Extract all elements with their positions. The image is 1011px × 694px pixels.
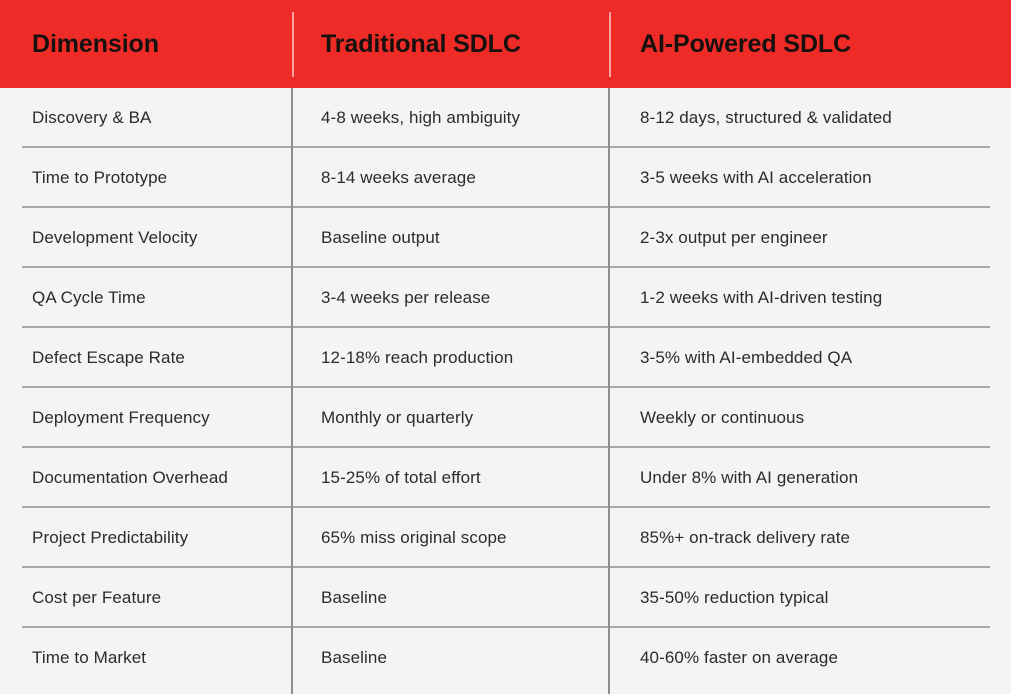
column-header-dimension-label: Dimension	[32, 30, 159, 59]
cell-ai-powered: 85%+ on-track delivery rate	[609, 508, 1011, 568]
cell-ai-powered: Under 8% with AI generation	[609, 448, 1011, 508]
cell-ai-powered: 1-2 weeks with AI-driven testing	[609, 268, 1011, 328]
table-row: Discovery & BA 4-8 weeks, high ambiguity…	[0, 88, 1011, 148]
table-row: Deployment Frequency Monthly or quarterl…	[0, 388, 1011, 448]
cell-traditional: 8-14 weeks average	[292, 148, 609, 208]
cell-ai-powered: Weekly or continuous	[609, 388, 1011, 448]
table-row: Cost per Feature Baseline 35-50% reducti…	[0, 568, 1011, 628]
cell-ai-powered: 3-5% with AI-embedded QA	[609, 328, 1011, 388]
cell-traditional: 3-4 weeks per release	[292, 268, 609, 328]
table-row: QA Cycle Time 3-4 weeks per release 1-2 …	[0, 268, 1011, 328]
column-header-ai-powered-sdlc: AI-Powered SDLC	[609, 0, 1011, 88]
column-header-ai-powered-sdlc-label: AI-Powered SDLC	[640, 30, 851, 59]
cell-traditional: 65% miss original scope	[292, 508, 609, 568]
column-header-traditional-sdlc-label: Traditional SDLC	[321, 30, 521, 59]
cell-traditional: 12-18% reach production	[292, 328, 609, 388]
cell-dimension: QA Cycle Time	[0, 268, 292, 328]
column-header-traditional-sdlc: Traditional SDLC	[292, 0, 609, 88]
cell-dimension: Documentation Overhead	[0, 448, 292, 508]
cell-traditional: Baseline	[292, 628, 609, 688]
cell-traditional: Monthly or quarterly	[292, 388, 609, 448]
cell-traditional: 4-8 weeks, high ambiguity	[292, 88, 609, 148]
cell-traditional: Baseline	[292, 568, 609, 628]
table-header-row: Dimension Traditional SDLC AI-Powered SD…	[0, 0, 1011, 88]
cell-traditional: Baseline output	[292, 208, 609, 268]
cell-dimension: Time to Prototype	[0, 148, 292, 208]
cell-ai-powered: 40-60% faster on average	[609, 628, 1011, 688]
table-row: Documentation Overhead 15-25% of total e…	[0, 448, 1011, 508]
table-row: Time to Prototype 8-14 weeks average 3-5…	[0, 148, 1011, 208]
cell-traditional: 15-25% of total effort	[292, 448, 609, 508]
cell-dimension: Time to Market	[0, 628, 292, 688]
cell-dimension: Project Predictability	[0, 508, 292, 568]
cell-ai-powered: 35-50% reduction typical	[609, 568, 1011, 628]
cell-ai-powered: 2-3x output per engineer	[609, 208, 1011, 268]
cell-dimension: Deployment Frequency	[0, 388, 292, 448]
cell-ai-powered: 3-5 weeks with AI acceleration	[609, 148, 1011, 208]
table-row: Defect Escape Rate 12-18% reach producti…	[0, 328, 1011, 388]
cell-dimension: Cost per Feature	[0, 568, 292, 628]
cell-dimension: Development Velocity	[0, 208, 292, 268]
cell-dimension: Defect Escape Rate	[0, 328, 292, 388]
table-body: Discovery & BA 4-8 weeks, high ambiguity…	[0, 88, 1011, 688]
table-row: Development Velocity Baseline output 2-3…	[0, 208, 1011, 268]
comparison-table: Dimension Traditional SDLC AI-Powered SD…	[0, 0, 1011, 694]
table-row: Time to Market Baseline 40-60% faster on…	[0, 628, 1011, 688]
column-header-dimension: Dimension	[0, 0, 292, 88]
cell-dimension: Discovery & BA	[0, 88, 292, 148]
cell-ai-powered: 8-12 days, structured & validated	[609, 88, 1011, 148]
table-row: Project Predictability 65% miss original…	[0, 508, 1011, 568]
